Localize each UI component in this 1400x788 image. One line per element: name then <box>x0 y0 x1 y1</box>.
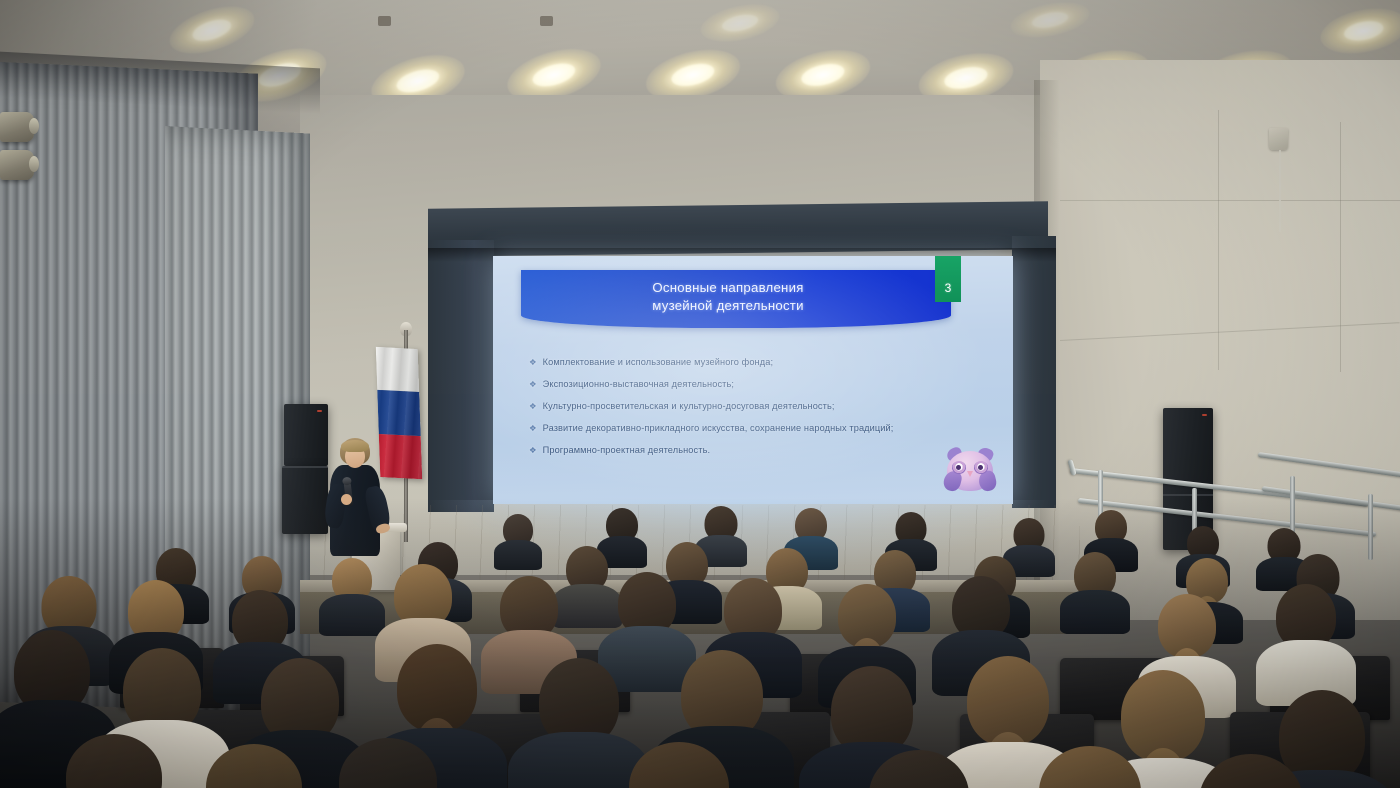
bullet-text: Комплектование и использование музейного… <box>543 356 774 369</box>
wall-panel-seam <box>1218 110 1219 370</box>
owl-illustration-icon <box>941 444 999 496</box>
diamond-bullet-icon: ❖ <box>529 444 537 457</box>
slide-number-badge: 3 <box>935 256 961 302</box>
audience-member <box>860 750 978 788</box>
slide-bullet-list: ❖ Комплектование и использование музейно… <box>529 356 987 466</box>
audience-member <box>560 546 614 614</box>
list-item: ❖ Комплектование и использование музейно… <box>529 356 987 369</box>
speaker-cable <box>1279 150 1281 232</box>
list-item: ❖ Развитие декоративно-прикладного искус… <box>529 422 987 435</box>
audience-member <box>620 742 738 788</box>
diamond-bullet-icon: ❖ <box>529 422 537 435</box>
wall-panel-seam <box>1060 200 1400 201</box>
ceiling-sensor-icon <box>540 16 553 26</box>
diamond-bullet-icon: ❖ <box>529 400 537 413</box>
bullet-text: Развитие декоративно-прикладного искусст… <box>543 422 894 435</box>
stage-light-icon <box>0 150 34 180</box>
audience-member <box>528 658 630 788</box>
audience-member <box>1068 552 1122 620</box>
wall-panel-seam <box>1340 122 1341 372</box>
list-item: ❖ Экспозиционно-выставочная деятельность… <box>529 378 987 391</box>
slide-title: Основные направления музейной деятельнос… <box>521 279 951 315</box>
bullet-text: Экспозиционно-выставочная деятельность; <box>543 378 734 391</box>
stage-light-icon <box>0 112 34 142</box>
audience-member <box>1268 584 1344 686</box>
ceiling-sensor-icon <box>378 16 391 26</box>
screen-frame-left <box>428 240 494 512</box>
audience <box>0 498 1400 788</box>
projection-screen: Основные направления музейной деятельнос… <box>493 256 1013 504</box>
bullet-text: Программно-проектная деятельность. <box>543 444 711 457</box>
audience-member <box>330 738 446 788</box>
list-item: ❖ Культурно-просветительская и культурно… <box>529 400 987 413</box>
audience-member <box>196 744 312 788</box>
lecture-hall-photo: Основные направления музейной деятельнос… <box>0 0 1400 788</box>
audience-member <box>56 734 172 788</box>
slide-title-banner: Основные направления музейной деятельнос… <box>521 270 951 328</box>
diamond-bullet-icon: ❖ <box>529 356 537 369</box>
diamond-bullet-icon: ❖ <box>529 378 537 391</box>
audience-member <box>1030 746 1150 788</box>
list-item: ❖ Программно-проектная деятельность. <box>529 444 987 457</box>
audience-member <box>326 558 378 624</box>
screen-frame-right <box>1012 236 1056 508</box>
audience-member <box>498 514 538 562</box>
presentation-slide: Основные направления музейной деятельнос… <box>493 256 1013 504</box>
slide-title-line-1: Основные направления <box>557 279 899 297</box>
bullet-text: Культурно-просветительская и культурно-д… <box>543 400 835 413</box>
wall-speaker-icon <box>1269 128 1288 150</box>
slide-title-line-2: музейной деятельности <box>557 297 899 315</box>
audience-member <box>1190 754 1312 788</box>
